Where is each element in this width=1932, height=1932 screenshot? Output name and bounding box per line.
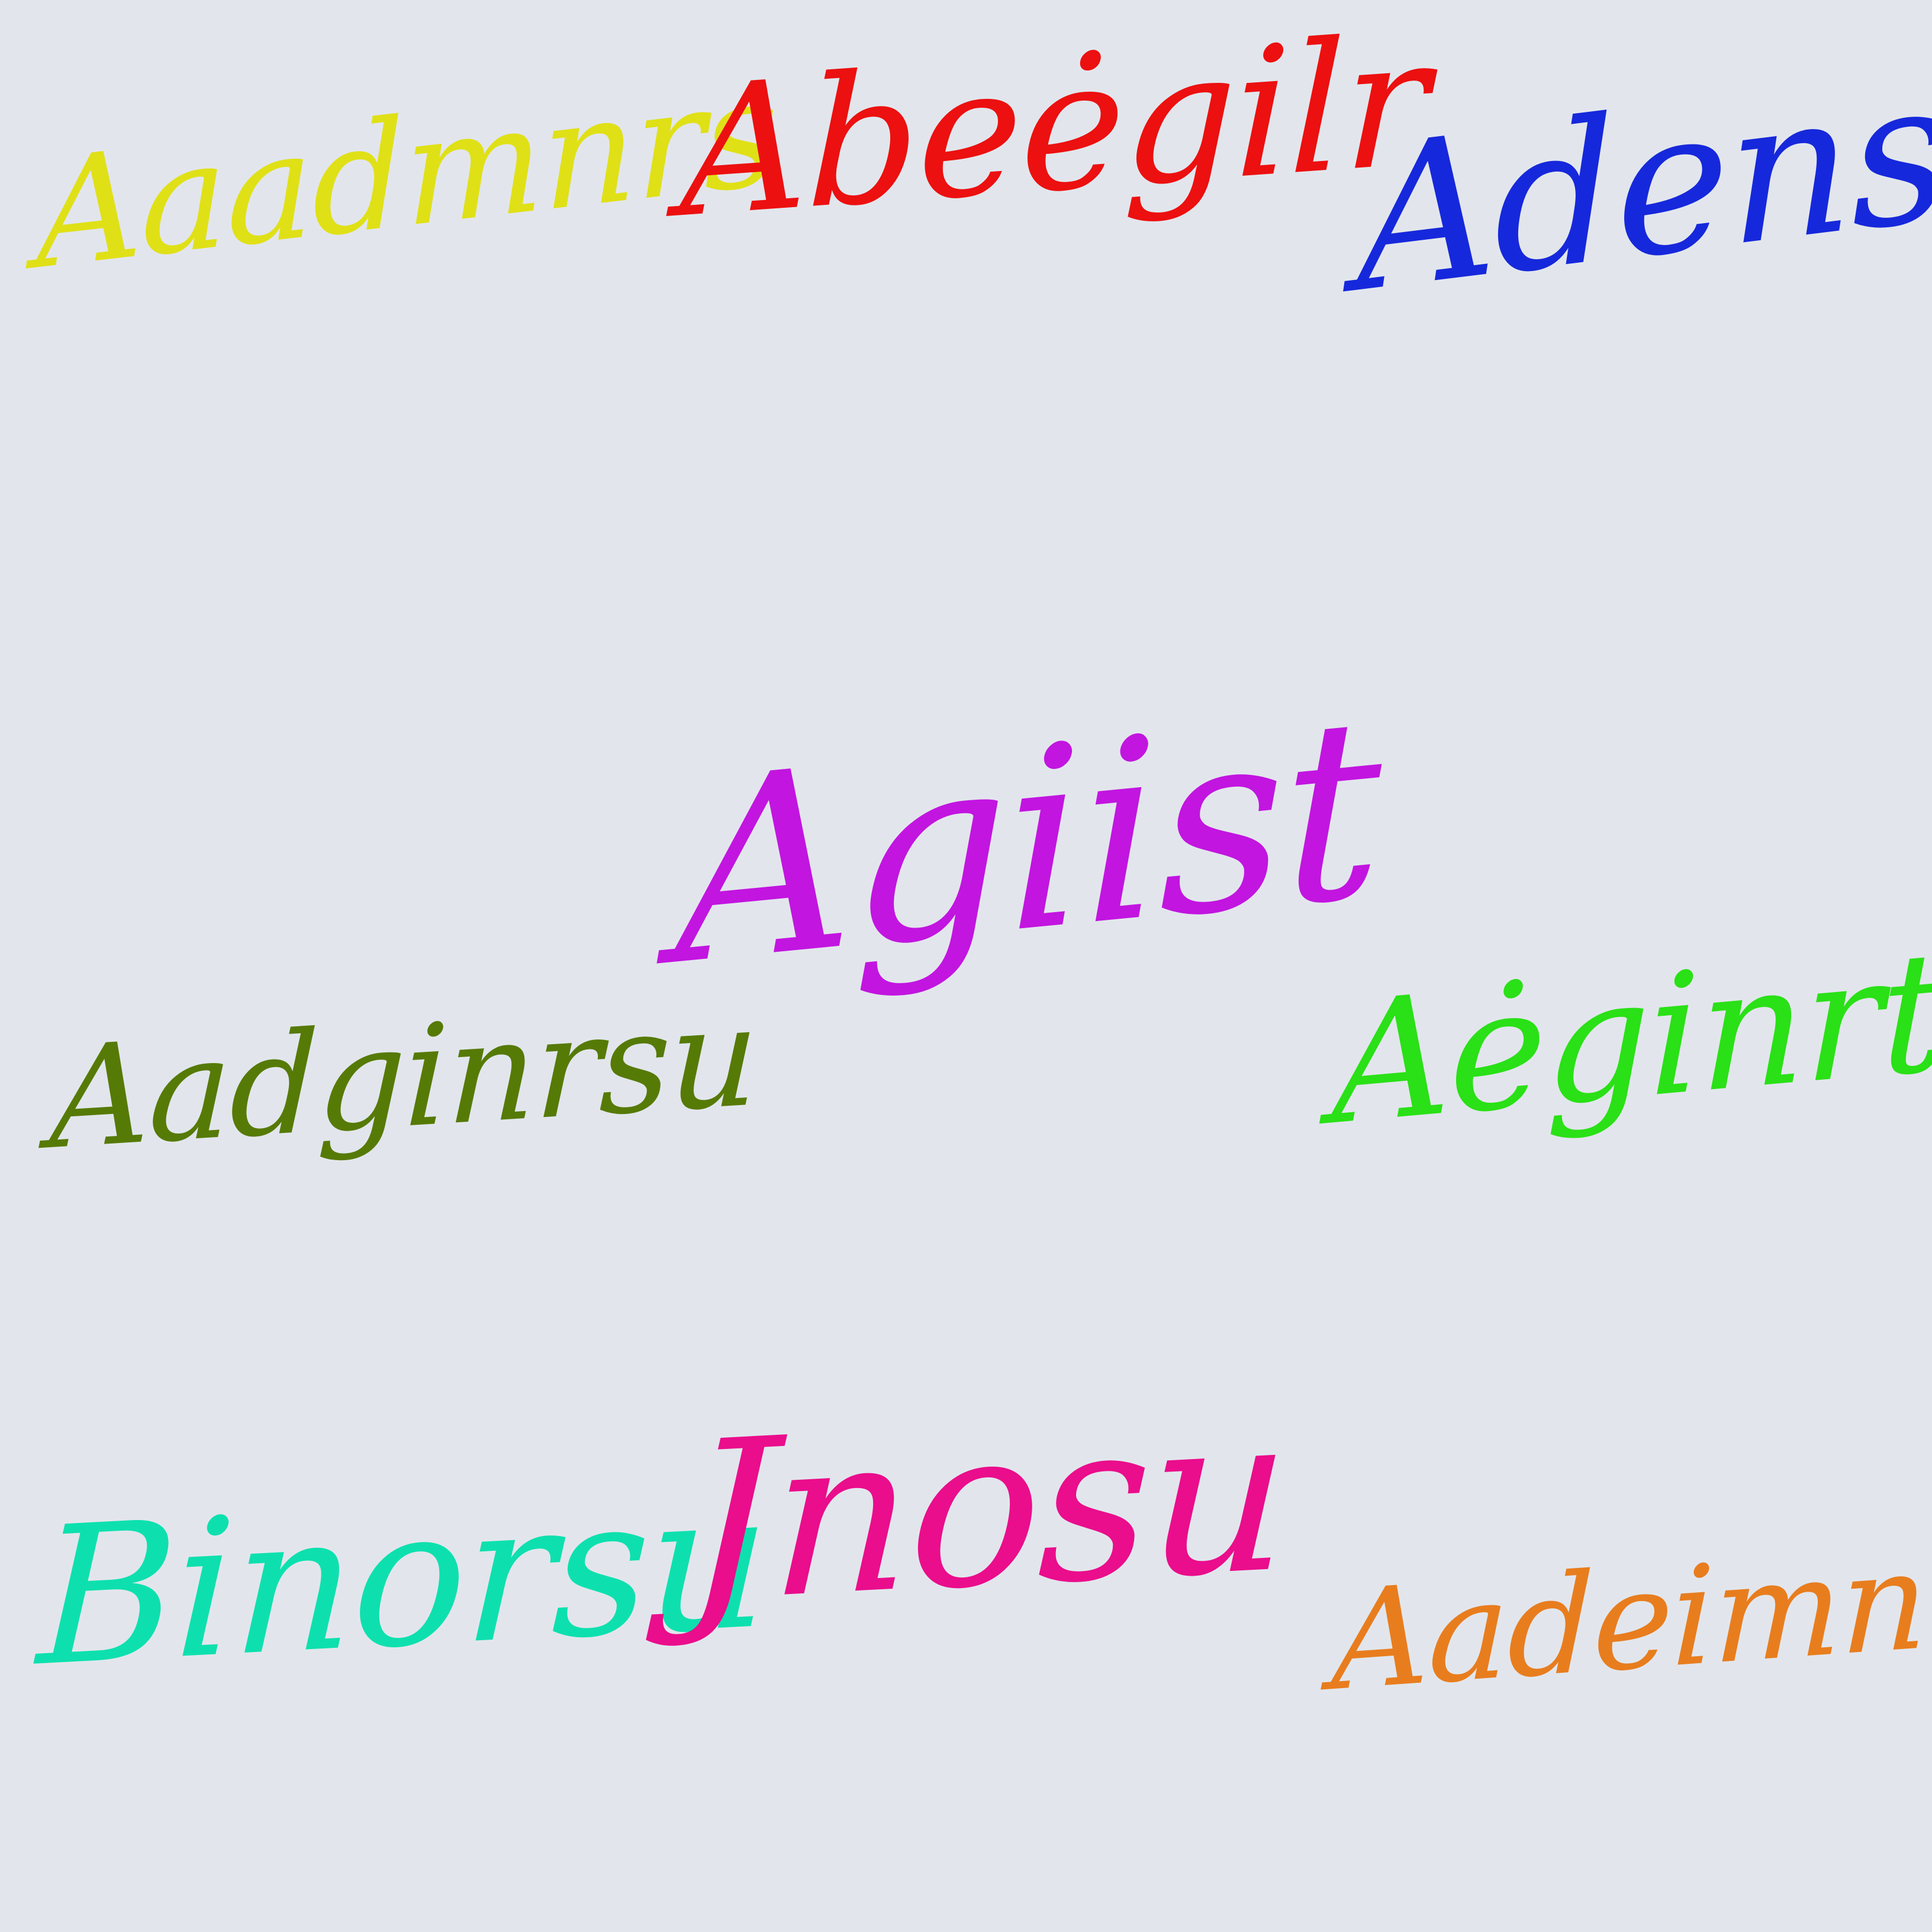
word-binorsu: Binorsu xyxy=(35,1465,770,1693)
word-jnosu: Jnosu xyxy=(683,1383,1291,1634)
word-aadeimnts: Aadeimnts xyxy=(1331,1524,1932,1711)
word-adens: Adens xyxy=(1352,51,1932,320)
word-aeginrt: Aėginrt xyxy=(1332,929,1932,1149)
word-aadeimnts-body: Aadeimnt xyxy=(1331,1518,1932,1721)
word-aadginrsu: Aadginrsu xyxy=(49,987,759,1170)
word-agiist: Agiist xyxy=(674,684,1380,1001)
text-canvas: Aaadmnrs Abeėgilr Adens Aadginrsu Agiist… xyxy=(0,0,1932,1932)
word-aaadmnrs: Aaadmnrs xyxy=(34,57,779,291)
word-abeegilr: Abeėgilr xyxy=(679,12,1428,243)
